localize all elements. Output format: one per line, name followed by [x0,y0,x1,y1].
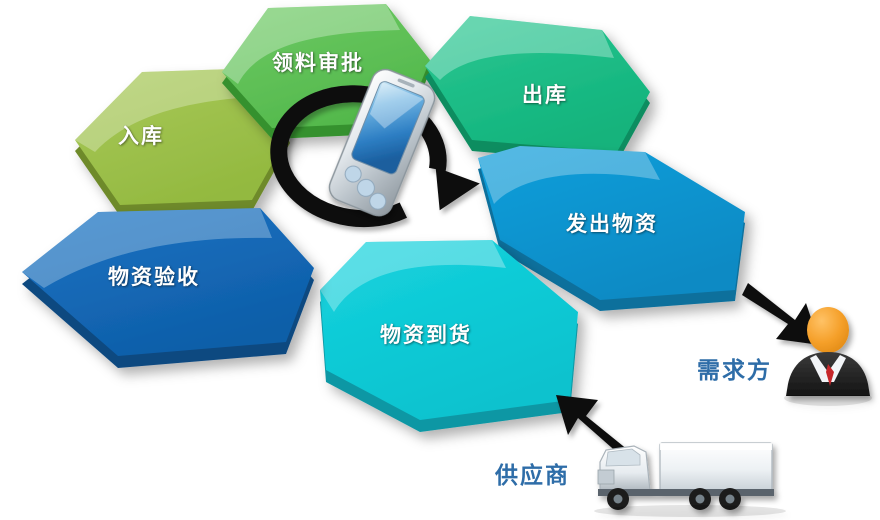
actor-label-xuqiufang: 需求方 [697,351,772,385]
truck-grille [598,470,614,484]
diagram-graphics [0,0,880,520]
actor-label-gongyingshang: 供应商 [495,456,570,490]
person-head [807,307,849,353]
truck-box-top-highlight [660,443,772,450]
delivery-truck-icon [594,443,786,517]
truck-hub-front [614,495,623,504]
truck-hub-mid [696,495,705,504]
arrow-supplier-shape [556,395,628,455]
hexagon-chuku[interactable] [425,16,650,163]
diagram-canvas: 入库 领料审批 出库 发出物资 物资到货 物资验收 需求方 供应商 [0,0,880,520]
hexagon-wuzi-yanshou[interactable] [22,208,314,368]
cycle-arrow-head [430,167,481,215]
truck-hub-rear [726,495,735,504]
person-ground-shadow [784,390,872,406]
truck-ground-shadow [594,505,786,517]
arrow-from-supplier [556,395,628,455]
truck-windshield [606,449,640,466]
truck-cargo-box [660,443,772,491]
